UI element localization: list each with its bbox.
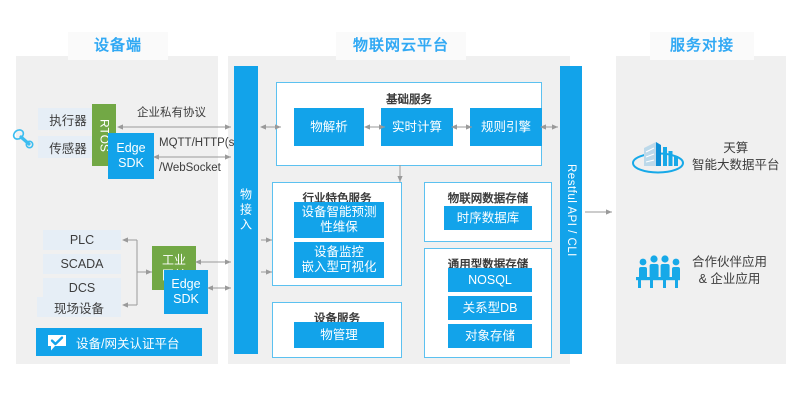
panel-service-docking [616,56,786,364]
panel-title-cloud: 物联网云平台 [336,32,466,60]
edge-sdk-top-line2: SDK [118,156,144,171]
edge-sdk-bottom-line1: Edge [171,277,200,292]
bigdata-platform-icon [630,134,686,180]
device-sensor-box: 传感器 [38,136,98,158]
bar-thing-ingest-label: 物接入 [234,66,258,354]
label-mqtt-http: MQTT/HTTP(s) [159,136,238,151]
device-monitoring-line2: 嵌入型可视化 [301,260,376,275]
edge-sdk-top-line1: Edge [116,141,145,156]
partners-icon [630,248,686,294]
field-item-scada: SCADA [43,254,121,274]
basic-services-title: 基础服务 [277,91,541,107]
panel-device-side [16,56,218,364]
predictive-maintenance-line1: 设备智能预测 [301,205,376,220]
basic-service-thing-parse: 物解析 [294,108,364,146]
architecture-diagram: 物接入 --> 物接入 --> 物接入 --> 物接入 --> 基础服务 -->… [0,0,802,411]
bar-thing-ingest: 物接入 [234,66,258,354]
bigdata-platform-line2: 智能大数据平台 [692,157,780,174]
partners-line1: 合作伙伴应用 [692,254,767,271]
general-storage-rdb: 关系型DB [448,296,532,320]
basic-service-rule-engine: 规则引擎 [470,108,542,146]
field-item-dcs: DCS [43,278,121,298]
general-storage-nosql: NOSQL [448,268,532,292]
tag-pin-icon [8,124,36,150]
iot-storage-tsdb: 时序数据库 [444,206,532,230]
industry-service-predictive-maintenance: 设备智能预测 性维保 [294,202,384,238]
label-websocket: /WebSocket [159,161,221,176]
service-row-bigdata: 天算 智能大数据平台 [630,134,780,180]
auth-platform-label: 设备/网关认证平台 [76,333,179,352]
bigdata-platform-line1: 天算 [692,140,780,157]
partners-label: 合作伙伴应用 & 企业应用 [692,254,767,288]
panel-title-device: 设备端 [68,32,168,60]
field-item-plc: PLC [43,230,121,250]
edge-sdk-box-top: Edge SDK [108,133,154,179]
edge-sdk-box-bottom: Edge SDK [164,270,208,314]
general-storage-object: 对象存储 [448,324,532,348]
check-bubble-icon [47,334,67,351]
edge-sdk-bottom-line2: SDK [173,292,199,307]
industry-service-device-monitoring: 设备监控 嵌入型可视化 [294,242,384,278]
partners-line2: & 企业应用 [692,271,767,288]
device-actuator-box: 执行器 [38,108,98,130]
bar-restful-api-cli: Restful API / CLI [560,66,582,354]
label-private-protocol: 企业私有协议 [137,106,206,121]
bigdata-platform-label: 天算 智能大数据平台 [692,140,780,174]
panel-title-service: 服务对接 [650,32,754,60]
predictive-maintenance-line2: 性维保 [320,220,358,235]
field-item-field-device: 现场设备 [37,297,121,317]
device-service-thing-management: 物管理 [294,322,384,348]
device-monitoring-line1: 设备监控 [314,245,364,260]
device-gateway-auth-platform: 设备/网关认证平台 [36,328,202,356]
bar-restful-api-cli-label: Restful API / CLI [560,66,582,354]
iot-storage-title: 物联网数据存储 [425,190,551,206]
service-row-partners: 合作伙伴应用 & 企业应用 [630,248,767,294]
gateway-line1: 工业 [162,253,186,268]
basic-service-realtime-compute: 实时计算 [381,108,453,146]
